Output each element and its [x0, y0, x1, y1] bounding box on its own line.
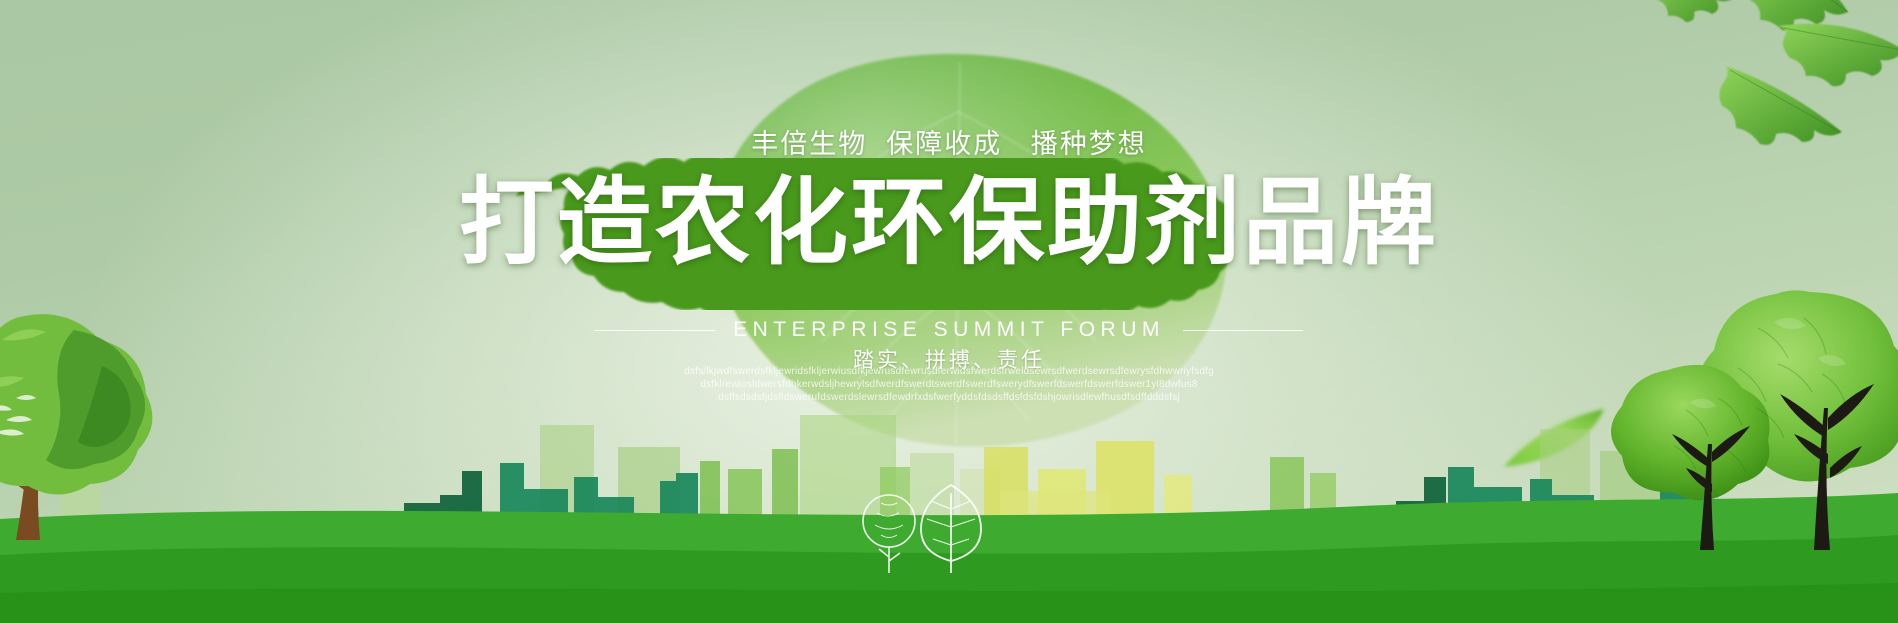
english-subtitle: ENTERPRISE SUMMIT FORUM: [733, 318, 1165, 342]
left-tree-graphic: [0, 300, 212, 540]
headline: 打造农化环保助剂品牌: [0, 172, 1898, 275]
right-trees-graphic: [1578, 278, 1898, 550]
rule-left: [595, 330, 715, 331]
outline-trees-icon: [855, 469, 1005, 579]
rule-right: [1183, 330, 1303, 331]
hero-banner: 丰倍生物 保障收成 播种梦想 打造农化环保助剂品牌 ENTERPRISE SUM…: [0, 0, 1898, 623]
tagline: 丰倍生物 保障收成 播种梦想: [0, 122, 1898, 161]
